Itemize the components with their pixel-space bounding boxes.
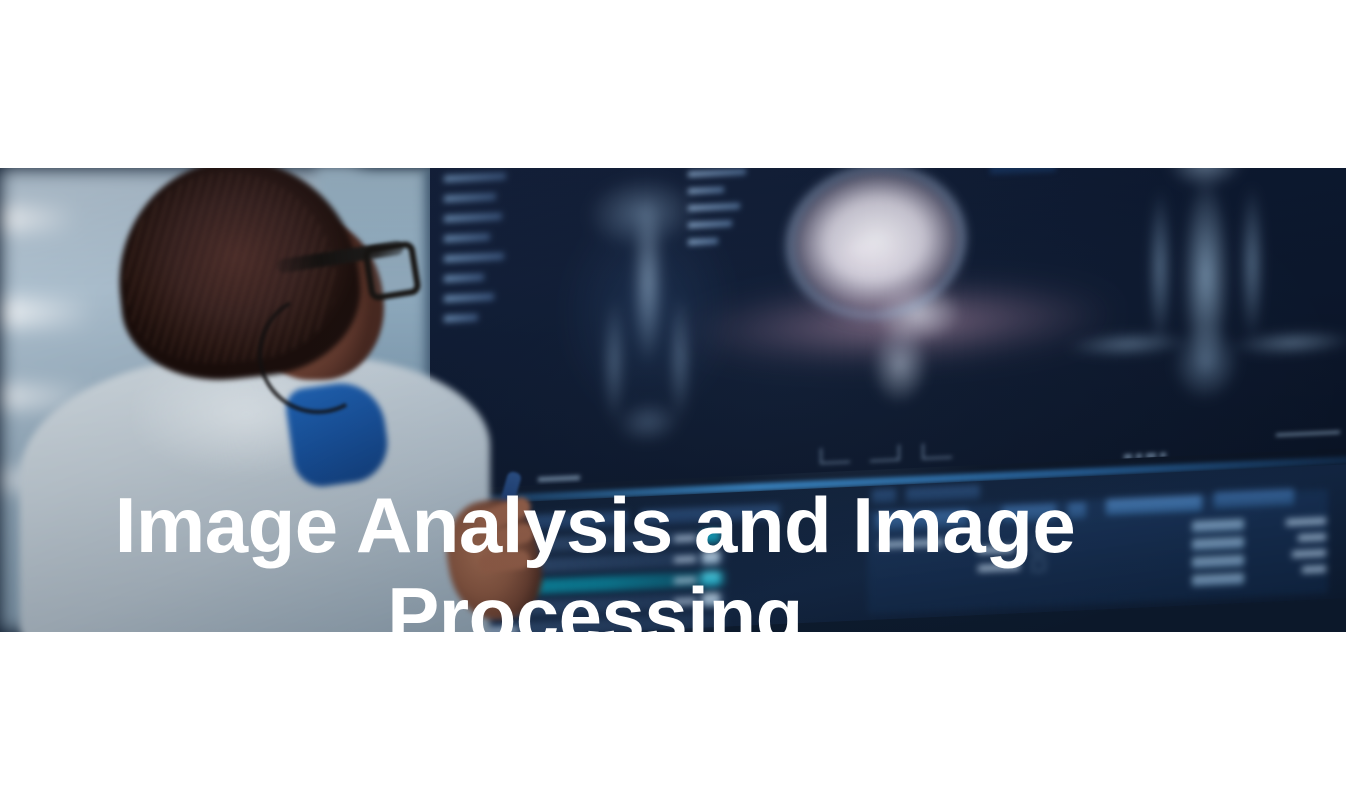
scan-viewport: [430, 168, 1346, 490]
page-title: Image Analysis and Image Processing: [98, 480, 1092, 632]
panel-readout: [1192, 573, 1244, 586]
panel-readout: [1192, 555, 1244, 568]
page-root: Image Analysis and Image Processing: [0, 0, 1346, 800]
panel-right-label: [1302, 565, 1326, 573]
panel-readout: [1192, 537, 1244, 550]
hero-banner: Image Analysis and Image Processing: [0, 168, 1346, 632]
glasses-lens: [362, 240, 422, 301]
coronal-neck-cervical-spine-scan: [1056, 168, 1346, 462]
hero-title-container: Image Analysis and Image Processing: [98, 480, 1092, 632]
brain-skull-outline: [750, 168, 1030, 449]
panel-right-label: [1298, 533, 1326, 541]
panel-readout: [1192, 519, 1244, 532]
monitor-midcolumn-labels: [688, 168, 758, 274]
